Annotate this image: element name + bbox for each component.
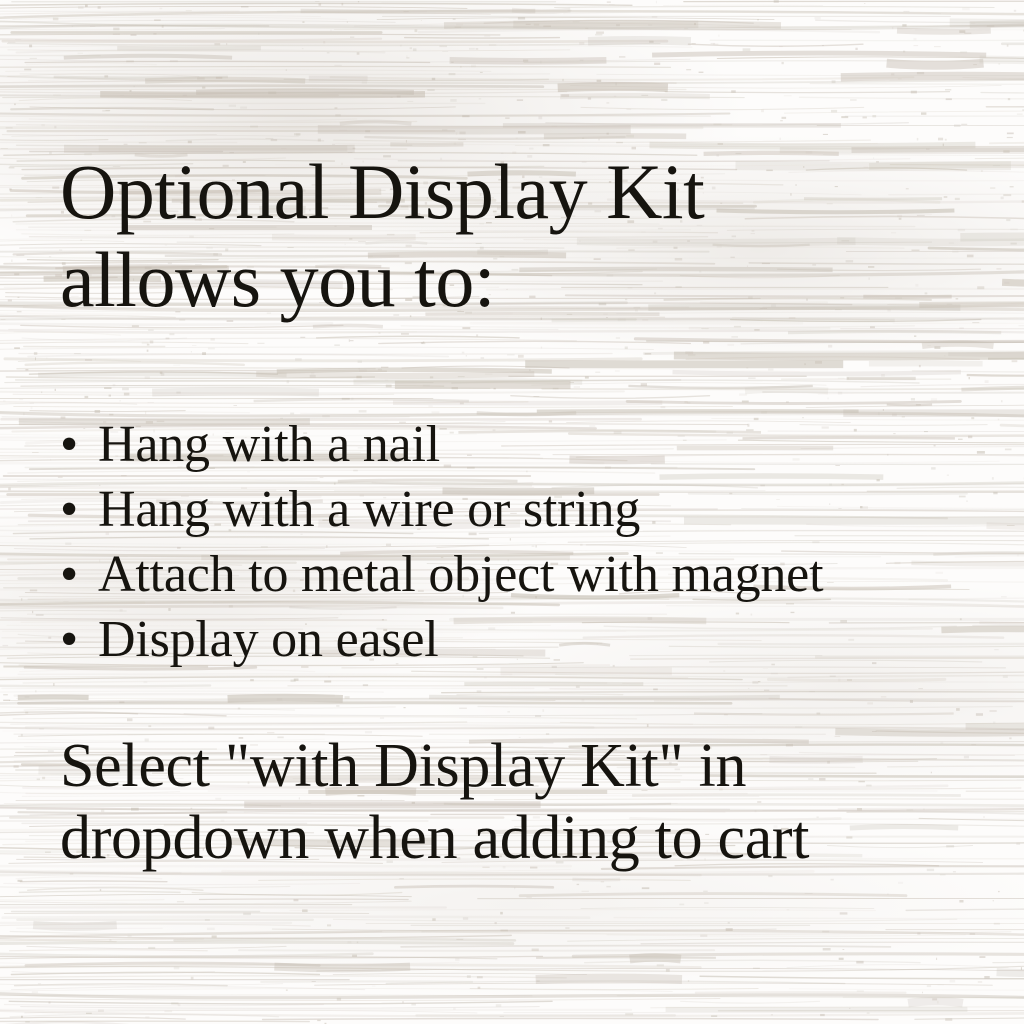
list-item-label: Display on easel (98, 607, 1000, 672)
list-item-label: Attach to metal object with magnet (98, 542, 1000, 607)
bullet-dot-icon: • (60, 412, 98, 477)
list-item: • Attach to metal object with magnet (60, 542, 1000, 607)
list-item-label: Hang with a wire or string (98, 477, 1000, 542)
bullet-dot-icon: • (60, 477, 98, 542)
feature-list: • Hang with a nail • Hang with a wire or… (60, 412, 1000, 672)
page-title: Optional Display Kit allows you to: (60, 148, 960, 324)
product-info-graphic: Optional Display Kit allows you to: • Ha… (0, 0, 1024, 1024)
bullet-dot-icon: • (60, 607, 98, 672)
bullet-dot-icon: • (60, 542, 98, 607)
list-item: • Hang with a wire or string (60, 477, 1000, 542)
list-item: • Hang with a nail (60, 412, 1000, 477)
list-item-label: Hang with a nail (98, 412, 1000, 477)
list-item: • Display on easel (60, 607, 1000, 672)
instruction-note: Select "with Display Kit" in dropdown wh… (60, 730, 990, 874)
